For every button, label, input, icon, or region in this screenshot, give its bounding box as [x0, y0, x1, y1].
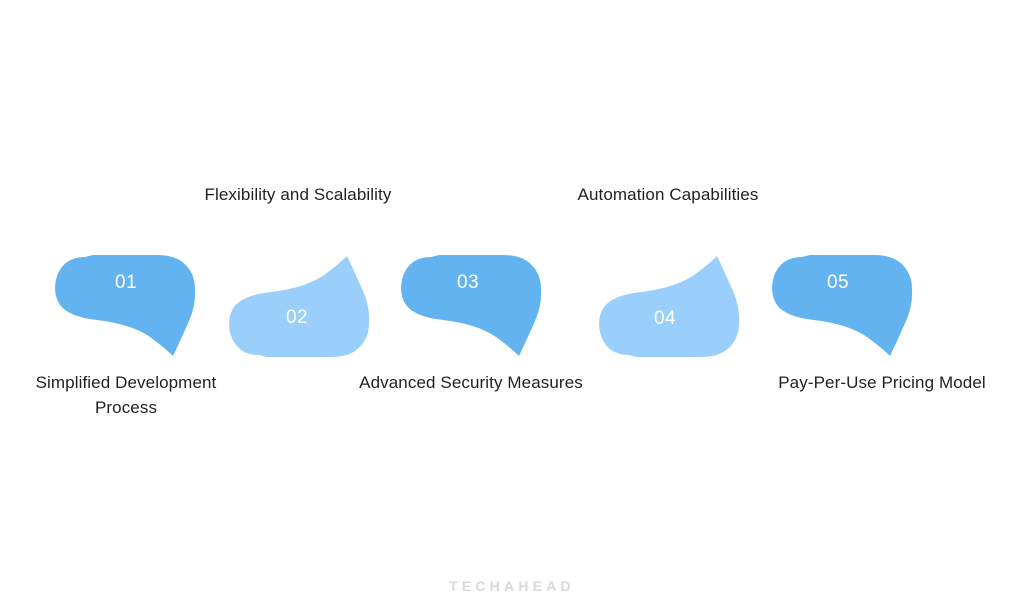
blob-shape-03	[399, 253, 545, 357]
blob-number-02: 02	[286, 308, 308, 327]
blob-shape-01	[53, 253, 199, 357]
blob-shape-05	[770, 253, 916, 357]
infographic-step-03: 03 Advanced Security Measures	[356, 170, 586, 430]
step-label-03: Advanced Security Measures	[356, 370, 586, 395]
infographic-step-05: 05 Pay-Per-Use Pricing Model	[757, 170, 987, 430]
infographic-canvas: 01 Simplified Development Process 02 Fle…	[0, 0, 1024, 609]
blob-shape-03-wrapper: 03	[356, 253, 586, 357]
step-label-04: Automation Capabilities	[553, 182, 783, 207]
blob-number-03: 03	[457, 273, 479, 292]
blob-number-05: 05	[827, 273, 849, 292]
blob-shape-04	[597, 255, 743, 359]
blob-number-01: 01	[115, 273, 137, 292]
blob-number-04: 04	[654, 309, 676, 328]
step-label-05: Pay-Per-Use Pricing Model	[767, 370, 997, 395]
techahead-watermark: TECHAHEAD	[0, 579, 1024, 593]
blob-shape-04-wrapper: 04	[553, 255, 783, 359]
blob-shape-05-wrapper: 05	[757, 253, 987, 357]
infographic-step-04: 04 Automation Capabilities	[553, 170, 783, 430]
